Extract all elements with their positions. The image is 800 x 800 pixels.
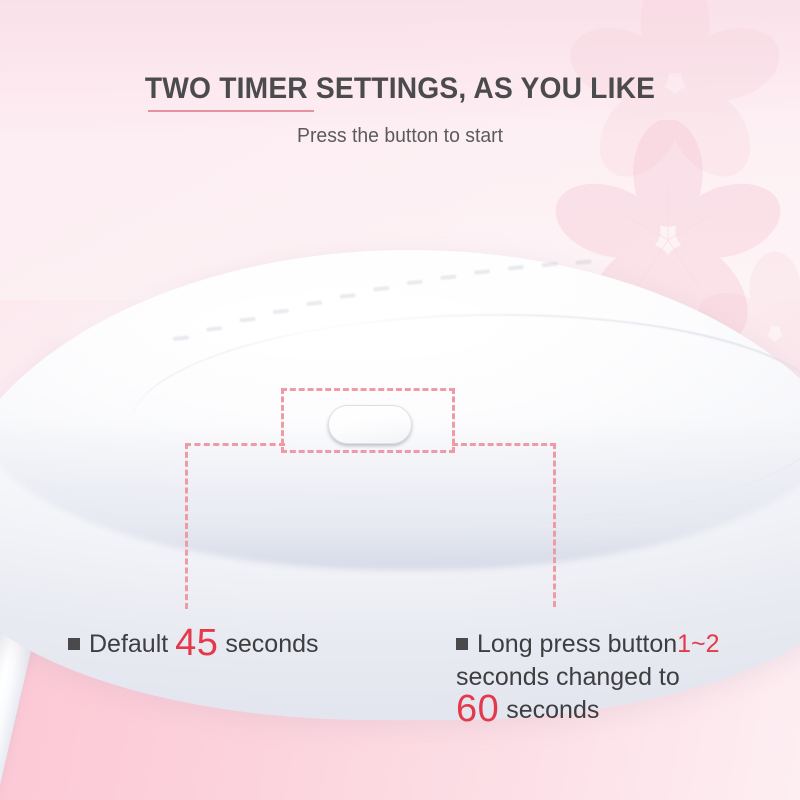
caption-right-prefix: Long press button: [477, 630, 677, 658]
power-button-callout-box: [281, 388, 455, 453]
caption-default-timer: Default 45 seconds: [68, 628, 319, 661]
title-underline: [148, 110, 314, 112]
callout-leader-left-vertical: [185, 443, 188, 609]
caption-right-suffix: seconds: [499, 696, 599, 724]
caption-right-value: 60: [456, 688, 499, 730]
callout-leader-right-horizontal: [452, 443, 556, 446]
page-title: TWO TIMER SETTINGS, AS YOU LIKE: [24, 72, 776, 106]
callout-leader-left-horizontal: [185, 443, 285, 446]
caption-right-line-3: 60 seconds: [456, 694, 720, 727]
background-top-wash: [0, 0, 800, 300]
caption-left-value: 45: [175, 622, 218, 664]
bullet-square-icon: [68, 638, 80, 650]
callout-leader-right-vertical: [553, 443, 556, 607]
infographic-canvas: TWO TIMER SETTINGS, AS YOU LIKE Press th…: [0, 0, 800, 800]
page-subtitle: Press the button to start: [12, 125, 788, 148]
caption-long-press-timer: Long press button1~2 seconds changed to …: [456, 628, 720, 727]
caption-right-line-1: Long press button1~2: [456, 628, 720, 661]
bullet-square-icon: [456, 638, 468, 650]
caption-left-prefix: Default: [89, 630, 175, 658]
caption-right-duration: 1~2: [677, 630, 719, 658]
lamp-stand-joint: [42, 462, 138, 508]
caption-left-suffix: seconds: [218, 630, 318, 658]
